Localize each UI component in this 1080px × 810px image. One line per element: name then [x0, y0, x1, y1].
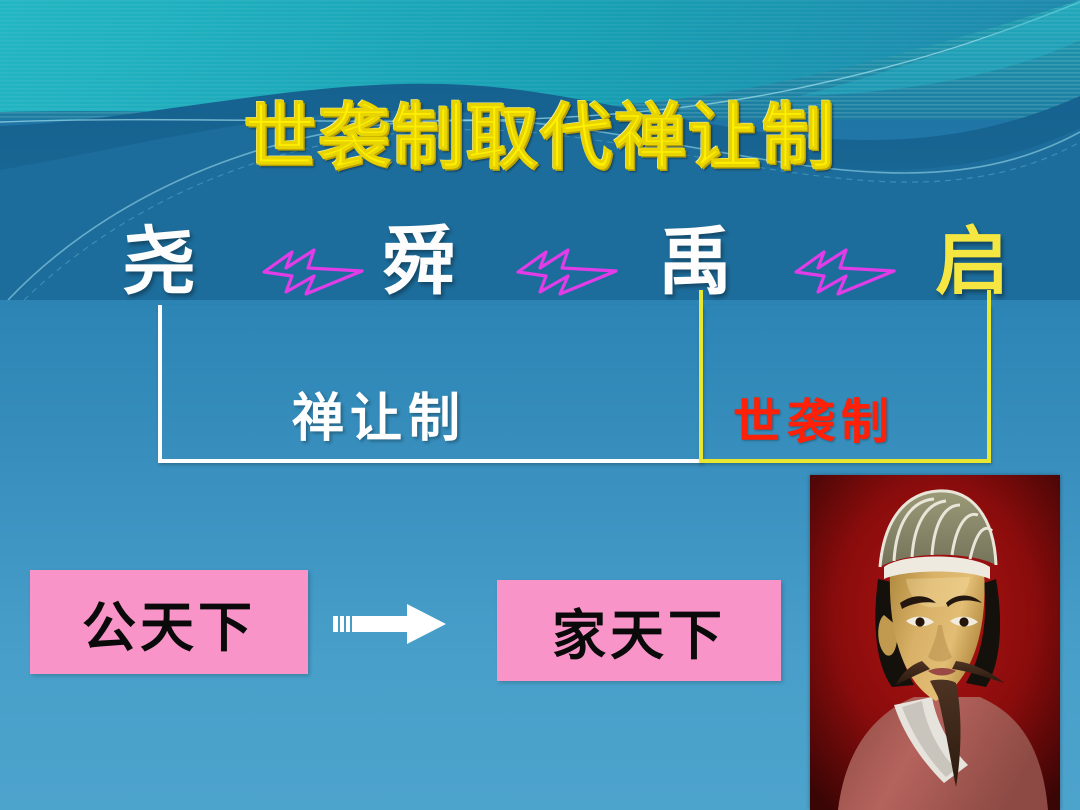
ruler-name-yao: 尧	[122, 212, 196, 312]
lineage-row: 尧 舜 禹 启	[0, 212, 1080, 312]
double-chevron-arrow-icon	[790, 242, 900, 300]
bracket-stub-yu	[699, 290, 703, 308]
concept-label-public-world: 公天下	[82, 583, 256, 662]
emperor-portrait	[810, 475, 1060, 810]
presentation-slide: 世袭制取代禅让制 尧 舜 禹 启 禅让制 世袭制 公天下	[0, 0, 1080, 810]
bracket-stub-qi	[987, 290, 991, 308]
ruler-name-yu: 禹	[658, 212, 732, 312]
concept-box-public-world: 公天下	[30, 570, 308, 674]
concept-label-family-world: 家天下	[552, 591, 726, 670]
ruler-name-qi: 启	[935, 212, 1009, 312]
slide-title: 世袭制取代禅让制	[0, 78, 1080, 183]
block-right-arrow-icon	[333, 600, 448, 648]
ruler-name-shun: 舜	[382, 212, 456, 312]
bracket-label-abdication: 禅让制	[292, 376, 466, 451]
double-chevron-arrow-icon	[512, 242, 622, 300]
concept-box-family-world: 家天下	[497, 580, 781, 681]
emperor-portrait-illustration	[810, 475, 1060, 810]
double-chevron-arrow-icon	[258, 242, 368, 300]
bracket-label-hereditary: 世袭制	[733, 382, 895, 452]
